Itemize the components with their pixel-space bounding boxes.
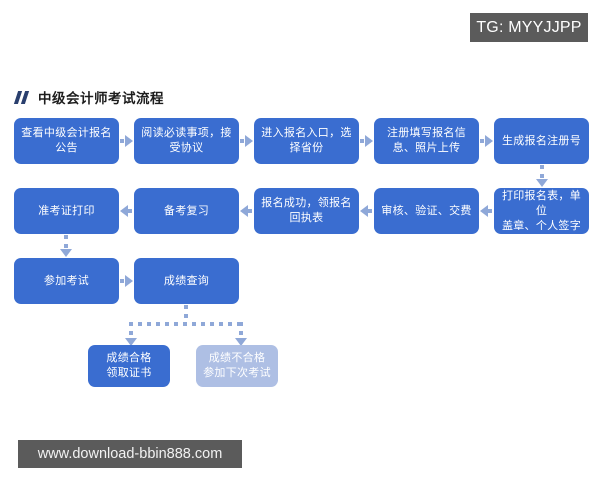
flow-node-label: 参加考试: [44, 274, 89, 289]
flow-node-label: 注册填写报名信 息、照片上传: [387, 126, 466, 156]
flow-node-enter-registration-portal[interactable]: 进入报名入口，选 择省份: [254, 118, 359, 164]
connector-arrow-right: [120, 135, 133, 146]
connector-arrow-right: [480, 135, 493, 146]
flow-node-print-admission-ticket[interactable]: 准考证打印: [14, 188, 119, 234]
page-title: 中级会计师考试流程: [15, 88, 164, 106]
connector-arrow-down: [235, 322, 247, 346]
connector-arrow-down: [536, 165, 548, 187]
flow-node-print-form-stamp-sign[interactable]: 打印报名表，单位 盖章、个人签字: [494, 188, 589, 234]
flow-node-fill-registration-info[interactable]: 注册填写报名信 息、照片上传: [374, 118, 479, 164]
connector-arrow-left: [240, 205, 253, 216]
flow-node-read-terms[interactable]: 阅读必读事项，接 受协议: [134, 118, 239, 164]
site-watermark-text: www.download-bbin888.com: [38, 446, 223, 462]
connector-arrow-right: [240, 135, 253, 146]
flow-node-label: 成绩合格 领取证书: [106, 351, 151, 381]
flow-node-label: 审核、验证、交费: [381, 204, 471, 219]
connector-arrow-right: [120, 275, 133, 286]
flow-node-label: 成绩查询: [164, 274, 209, 289]
flow-node-review-verify-pay[interactable]: 审核、验证、交费: [374, 188, 479, 234]
connector-arrow-down: [60, 235, 72, 257]
flow-node-take-exam[interactable]: 参加考试: [14, 258, 119, 304]
tg-watermark-badge: TG: MYYJJPP: [470, 13, 588, 42]
flow-node-label: 准考证打印: [38, 204, 95, 219]
flow-node-check-score[interactable]: 成绩查询: [134, 258, 239, 304]
connector-arrow-right: [360, 135, 373, 146]
flow-node-label: 打印报名表，单位 盖章、个人签字: [500, 189, 583, 234]
flow-node-view-announcement[interactable]: 查看中级会计报名 公告: [14, 118, 119, 164]
branch-stem: [184, 305, 188, 323]
flow-node-label: 备考复习: [164, 204, 209, 219]
flow-node-label: 生成报名注册号: [502, 134, 581, 149]
flow-node-label: 报名成功，领报名 回执表: [261, 196, 351, 226]
flow-node-exam-review[interactable]: 备考复习: [134, 188, 239, 234]
connector-arrow-left: [120, 205, 133, 216]
flow-node-generate-registration-number[interactable]: 生成报名注册号: [494, 118, 589, 164]
flow-node-label: 阅读必读事项，接 受协议: [141, 126, 231, 156]
branch-bus: [129, 322, 241, 326]
site-watermark: www.download-bbin888.com: [18, 440, 242, 468]
flow-node-registration-success-receipt[interactable]: 报名成功，领报名 回执表: [254, 188, 359, 234]
flow-node-label: 成绩不合格 参加下次考试: [203, 351, 271, 381]
connector-arrow-left: [360, 205, 373, 216]
connector-arrow-down: [125, 322, 137, 346]
page-title-text: 中级会计师考试流程: [38, 87, 164, 107]
connector-arrow-left: [480, 205, 493, 216]
flow-node-pass-get-certificate[interactable]: 成绩合格 领取证书: [88, 345, 170, 387]
flow-node-label: 查看中级会计报名 公告: [21, 126, 111, 156]
flow-node-label: 进入报名入口，选 择省份: [261, 126, 351, 156]
title-accent-bars-icon: [15, 91, 32, 104]
flow-node-fail-retake-exam[interactable]: 成绩不合格 参加下次考试: [196, 345, 278, 387]
tg-watermark-text: TG: MYYJJPP: [476, 19, 581, 37]
